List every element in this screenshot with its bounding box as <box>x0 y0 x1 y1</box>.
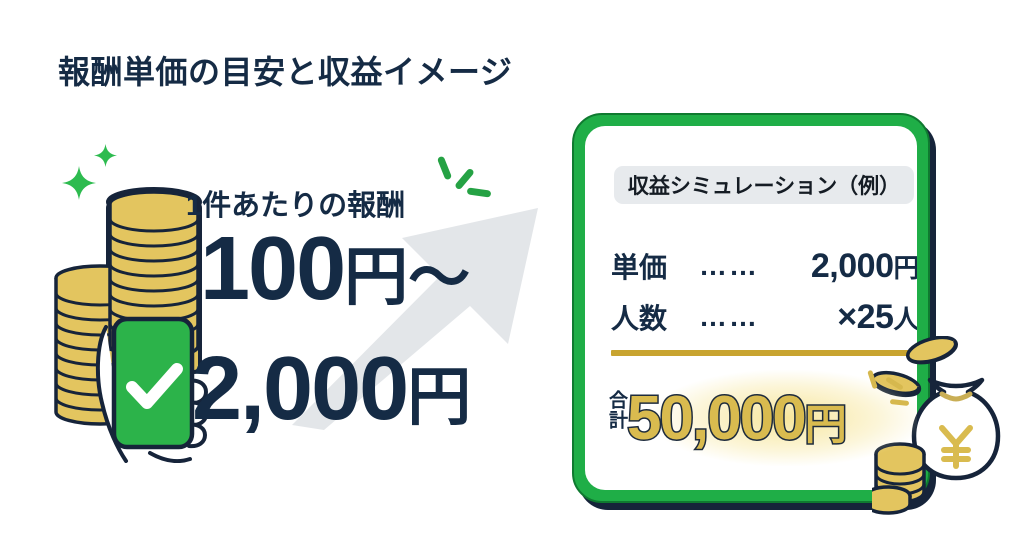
total-number: 50,000 <box>627 384 805 453</box>
reward-min-unit: 円 <box>344 241 408 313</box>
reward-max-unit: 円 <box>407 361 471 433</box>
total-value: 50,000円 <box>627 383 846 454</box>
card-border: 収益シミュレーション（例） 単価 …… 2,000円 人数 …… ×25人 合計… <box>572 113 930 503</box>
reward-max-amount: 2,000円 <box>192 344 471 434</box>
row-value-number: 2,000 <box>811 247 894 285</box>
card-body: 収益シミュレーション（例） 単価 …… 2,000円 人数 …… ×25人 合計… <box>585 126 917 490</box>
row-value-unit: 人 <box>893 304 917 334</box>
row-value-unit-price: 2,000円 <box>761 247 917 286</box>
dot-leader: …… <box>699 250 761 282</box>
total-row: 合計 50,000円 <box>607 378 917 458</box>
row-label-unit-price: 単価 <box>611 246 699 286</box>
total-unit: 円 <box>805 401 846 448</box>
reward-min-value: 100 <box>200 219 344 319</box>
reward-range-panel: 1件あたりの報酬 100円〜 2,000円 <box>0 0 560 538</box>
simulation-card: 収益シミュレーション（例） 単価 …… 2,000円 人数 …… ×25人 合計… <box>572 113 930 503</box>
row-label-people: 人数 <box>611 297 699 337</box>
range-mark: 〜 <box>408 244 470 313</box>
dot-leader: …… <box>699 301 761 333</box>
row-value-unit: 円 <box>893 253 917 283</box>
table-row: 人数 …… ×25人 <box>611 294 917 340</box>
reward-min-amount: 100円〜 <box>200 224 470 314</box>
speed-dash-icon <box>437 156 452 181</box>
row-value-number: ×25 <box>837 298 893 336</box>
infographic-canvas: 報酬単価の目安と収益イメージ <box>0 0 1024 538</box>
card-header-label: 収益シミュレーション（例） <box>628 170 900 200</box>
reward-per-case-label: 1件あたりの報酬 <box>186 182 405 224</box>
reward-max-value: 2,000 <box>192 339 407 439</box>
table-row: 単価 …… 2,000円 <box>611 243 917 289</box>
row-value-people: ×25人 <box>761 298 917 337</box>
falling-coin-icon <box>905 336 959 367</box>
total-label: 合計 <box>607 390 625 446</box>
card-header-pill: 収益シミュレーション（例） <box>614 166 914 204</box>
